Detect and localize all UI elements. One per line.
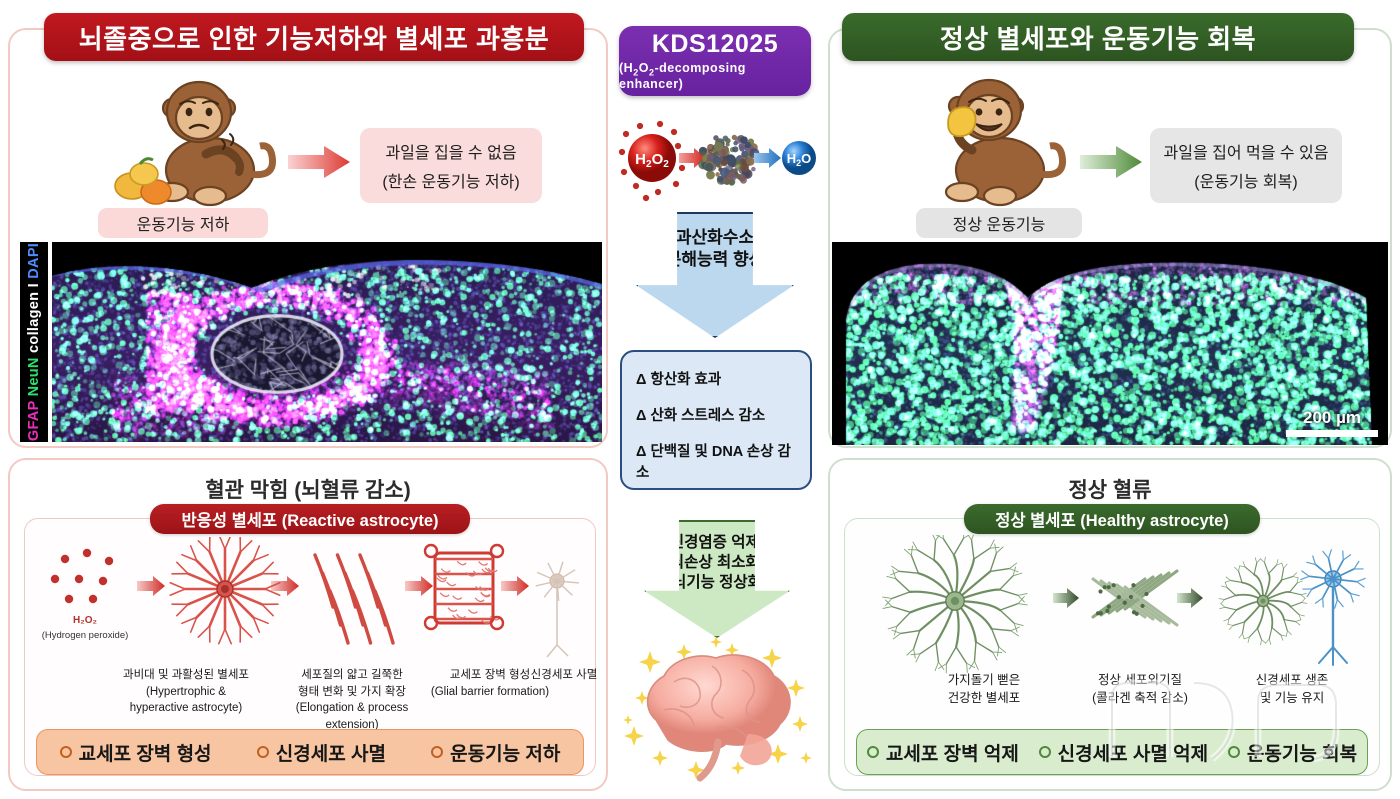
reactive-caption-3: 신경세포 사멸 [525,667,603,684]
arrow-right-red-icon [288,145,350,179]
recovery-summary-item-0: 교세포 장벽 억제 [867,739,1019,766]
caption-line: hyperactive astrocyte) [101,700,271,717]
h2o2-decomposition-arrow: 과산화수소 분해능력 향상 [636,212,794,338]
scale-bar-label: 200 µm [1286,408,1378,428]
stroke-outcome-callout: 과일을 집을 수 없음 (한손 운동기능 저하) [360,128,542,203]
bullet-ring-icon [60,746,72,758]
caption-line: 가지돌기 뻗은 [893,671,1075,689]
green-arrow-line3: 뇌기능 정상화 [672,573,762,593]
recovery-outcome-line2: (운동기능 회복) [1194,168,1297,192]
bottom-right-title: 정상 혈류 [830,474,1390,504]
panel-recovery-bottom: 정상 혈류 정상 별세포 (Healthy astrocyte) 가지돌기 뻗은… [828,458,1392,791]
drug-subtitle: (H2O2-decomposing enhancer) [619,61,811,92]
summary-label: 운동기능 회복 [1247,739,1357,766]
center-mechanism-column: KDS12025 (H2O2-decomposing enhancer) [612,0,818,799]
effect-item-1: Δ 산화 스트레스 감소 [636,404,798,425]
caption-line: (콜라겐 축적 감소) [1055,689,1225,707]
bullet-ring-icon [257,746,269,758]
healthy-monkey-illustration [900,62,1080,212]
blue-arrow-line2: 분해능력 향상 [666,249,765,271]
happy-monkey-icon [900,62,1080,212]
stain-label-dapi: DAPI [26,243,42,279]
effect-item-2: Δ 단백질 및 DNA 손상 감소 [636,440,798,482]
caption-line: 과비대 및 과활성된 별세포 [101,667,271,684]
healthy-brain-icon [620,636,812,788]
histology-image-stroke [52,242,602,442]
reactive-caption-0: 과비대 및 과활성된 별세포(Hypertrophic &hyperactive… [101,667,271,717]
recovery-summary-item-1: 신경세포 사멸 억제 [1039,739,1208,766]
stain-label-neun: NeuN [26,357,42,396]
effect-item-0: Δ 항산화 효과 [636,368,798,389]
summary-label: 신경세포 사멸 [276,739,386,766]
caption-line: 형태 변화 및 가지 확장 [271,684,433,701]
reactive-caption-1: 세포질의 얇고 길쭉한형태 변화 및 가지 확장(Elongation & pr… [271,667,433,734]
stain-label-gfap: GFAP [26,401,42,441]
caption-line: 신경세포 사멸 [525,667,603,684]
healthy-astrocyte-illustration [845,535,1381,677]
stroke-summary-item-0: 교세포 장벽 형성 [60,739,212,766]
h2o2-sub-label: (Hydrogen peroxide) [42,630,129,641]
bullet-ring-icon [1039,746,1051,758]
blue-arrow-line1: 과산화수소 [676,227,754,249]
scale-bar: 200 µm [1286,408,1378,437]
antioxidant-effects-box: Δ 항산화 효과Δ 산화 스트레스 감소Δ 단백질 및 DNA 손상 감소 [620,350,812,490]
caption-line: (Hypertrophic & [101,684,271,701]
scale-bar-line [1286,430,1378,437]
caption-line: 세포질의 얇고 길쭉한 [271,667,433,684]
histology-image-recovery: 200 µm [832,242,1388,445]
summary-label: 운동기능 저하 [450,739,560,766]
recovery-summary-item-2: 운동기능 회복 [1228,739,1357,766]
healthy-astrocyte-pill: 정상 별세포 (Healthy astrocyte) [964,504,1260,534]
motor-deficit-tag: 운동기능 저하 [98,208,268,238]
caption-line: 및 기능 유지 [1217,689,1367,707]
healthy-caption-2: 신경세포 생존및 기능 유지 [1217,671,1367,707]
sad-monkey-icon [110,62,290,212]
panel-stroke-bottom: 혈관 막힘 (뇌혈류 감소) 반응성 별세포 (Reactive astrocy… [8,458,608,791]
healthy-caption-0: 가지돌기 뻗은건강한 별세포 [893,671,1075,707]
drug-badge: KDS12025 (H2O2-decomposing enhancer) [619,26,811,96]
caption-line: (Elongation & process [271,700,433,717]
caption-line: 건강한 별세포 [893,689,1075,707]
reactive-astrocyte-pill: 반응성 별세포 (Reactive astrocyte) [150,504,470,534]
bullet-ring-icon [431,746,443,758]
neuroprotection-arrow: 신경염증 억제, 뇌손상 최소화, 뇌기능 정상화 [644,520,790,638]
stroke-summary-item-1: 신경세포 사멸 [257,739,386,766]
summary-label: 교세포 장벽 억제 [886,739,1019,766]
arrow-right-green-icon [1080,145,1142,179]
stroke-summary-strip: 교세포 장벽 형성신경세포 사멸운동기능 저하 [36,729,584,775]
title-recovery-panel: 정상 별세포와 운동기능 회복 [842,13,1354,61]
summary-label: 신경세포 사멸 억제 [1058,739,1208,766]
title-stroke-panel: 뇌졸중으로 인한 기능저하와 별세포 과흥분 [44,13,584,61]
caption-line: 신경세포 생존 [1217,671,1367,689]
caption-line: (Glial barrier formation) [415,684,565,701]
recovery-outcome-line1: 과일을 집어 먹을 수 있음 [1164,139,1329,163]
reactive-astrocyte-illustration: H₂O₂(Hydrogen peroxide) [25,537,597,677]
bottom-left-title: 혈관 막힘 (뇌혈류 감소) [10,474,606,504]
summary-label: 교세포 장벽 형성 [79,739,212,766]
sick-monkey-illustration [110,62,290,212]
recovery-outcome-callout: 과일을 집어 먹을 수 있음 (운동기능 회복) [1150,128,1342,203]
h2o2-decomposition-reaction-icon: H2O2 H2O [616,112,816,204]
stain-legend-text: GFAP NeuN collagen I DAPI [26,243,42,441]
bullet-ring-icon [867,746,879,758]
green-arrow-line2: 뇌손상 최소화, [670,553,764,573]
normal-motor-tag: 정상 운동기능 [916,208,1082,238]
healthy-caption-1: 정상 세포외기질(콜라겐 축적 감소) [1055,671,1225,707]
stroke-outcome-line1: 과일을 집을 수 없음 [385,139,516,163]
bullet-ring-icon [1228,746,1240,758]
green-arrow-line1: 신경염증 억제, [670,533,764,553]
caption-line: 정상 세포외기질 [1055,671,1225,689]
drug-name: KDS12025 [652,31,778,59]
h2o2-formula-label: H₂O₂ [73,615,97,626]
stain-legend-bar: GFAP NeuN collagen I DAPI [20,242,48,442]
infographic-stage: 혈관 막힘 (뇌혈류 감소) 반응성 별세포 (Reactive astrocy… [0,0,1400,799]
stain-label-collagen: collagen I [26,283,42,353]
stroke-summary-item-2: 운동기능 저하 [431,739,560,766]
recovery-summary-strip: 교세포 장벽 억제신경세포 사멸 억제운동기능 회복 [856,729,1368,775]
stroke-outcome-line2: (한손 운동기능 저하) [382,168,519,192]
